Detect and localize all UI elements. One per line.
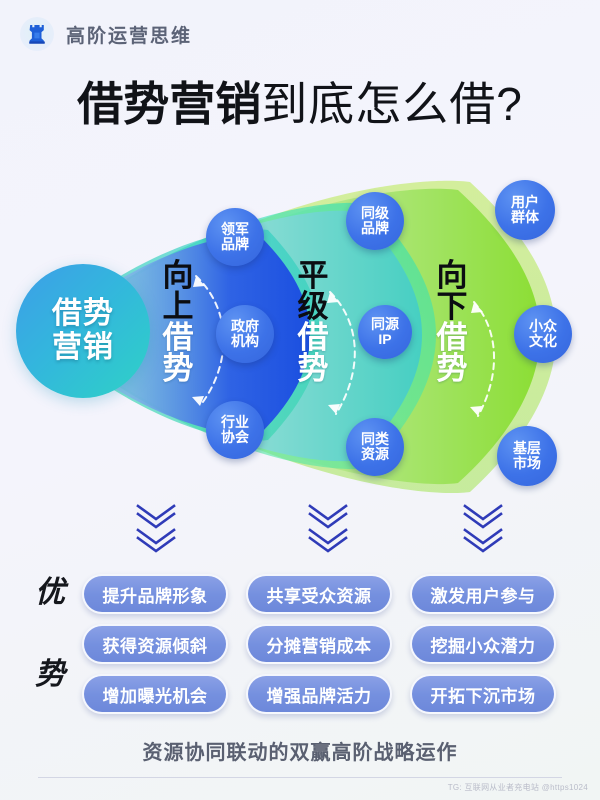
page-title: 借势营销到底怎么借? — [0, 80, 600, 130]
node-downward-3-line1: 基层 — [513, 441, 541, 456]
advantage-pill[interactable]: 增加曝光机会 — [82, 674, 228, 714]
node-peer-2-line1: 同源 — [371, 317, 399, 332]
node-downward-3-line2: 市场 — [513, 456, 541, 471]
advantage-pill[interactable]: 挖掘小众潜力 — [410, 624, 556, 664]
node-peer-1[interactable]: 同级 品牌 — [346, 192, 404, 250]
node-peer-3-line1: 同类 — [361, 432, 389, 447]
footer: 资源协同联动的双赢高阶战略运作 — [0, 736, 600, 778]
chevron-double-down-icon — [300, 500, 356, 556]
app-header: 高阶运营思维 — [0, 0, 600, 68]
advantages-grid: 提升品牌形象 共享受众资源 激发用户参与 获得资源倾斜 分摊营销成本 挖掘小众潜… — [82, 574, 582, 714]
node-upward-3-line1: 行业 — [221, 415, 249, 430]
node-peer-3-line2: 资源 — [361, 447, 389, 462]
footer-divider — [38, 777, 562, 778]
chevron-double-down-icon — [455, 500, 511, 556]
core-line-2: 营销 — [52, 331, 114, 365]
funnel-diagram: 借势 营销 向上 借势 平级 借势 向下 借势 领军 品牌 政府 机构 行业 协… — [0, 168, 600, 508]
chevron-double-down-icon — [128, 500, 184, 556]
node-upward-2-line1: 政府 — [231, 319, 259, 334]
node-downward-2-line2: 文化 — [529, 334, 557, 349]
node-upward-1-line1: 领军 — [221, 222, 249, 237]
chevron-row — [0, 500, 600, 560]
advantage-pill[interactable]: 共享受众资源 — [246, 574, 392, 614]
footer-tagline: 资源协同联动的双赢高阶战略运作 — [0, 736, 600, 765]
advantage-pill[interactable]: 分摊营销成本 — [246, 624, 392, 664]
node-upward-1[interactable]: 领军 品牌 — [206, 208, 264, 266]
advantages-label-char1: 优 — [26, 578, 74, 608]
node-upward-3-line2: 协会 — [221, 430, 249, 445]
node-upward-1-line2: 品牌 — [221, 237, 249, 252]
advantage-pill[interactable]: 获得资源倾斜 — [82, 624, 228, 664]
node-downward-1[interactable]: 用户 群体 — [495, 180, 555, 240]
chess-rook-icon — [20, 17, 54, 51]
node-upward-2-line2: 机构 — [231, 334, 259, 349]
advantage-pill[interactable]: 激发用户参与 — [410, 574, 556, 614]
advantages-section: 优 势 提升品牌形象 共享受众资源 激发用户参与 获得资源倾斜 分摊营销成本 挖… — [0, 562, 600, 732]
advantage-pill[interactable]: 开拓下沉市场 — [410, 674, 556, 714]
page-title-rest: 到底怎么借? — [261, 78, 523, 130]
node-downward-3[interactable]: 基层 市场 — [497, 426, 557, 486]
watermark: TG: 互联网从业者充电站 @https1024 — [448, 782, 588, 793]
advantages-label: 优 势 — [26, 578, 74, 690]
page-title-wrap: 借势营销到底怎么借? — [0, 80, 600, 130]
node-downward-1-line1: 用户 — [511, 195, 539, 210]
node-peer-1-line1: 同级 — [361, 206, 389, 221]
brand-name: 高阶运营思维 — [66, 21, 192, 48]
advantage-pill[interactable]: 提升品牌形象 — [82, 574, 228, 614]
core-circle: 借势 营销 — [16, 264, 150, 398]
node-upward-2[interactable]: 政府 机构 — [216, 305, 274, 363]
node-downward-1-line2: 群体 — [511, 210, 539, 225]
advantages-label-char2: 势 — [26, 660, 74, 690]
node-upward-3[interactable]: 行业 协会 — [206, 401, 264, 459]
advantage-pill[interactable]: 增强品牌活力 — [246, 674, 392, 714]
node-peer-1-line2: 品牌 — [361, 221, 389, 236]
node-peer-2[interactable]: 同源 IP — [358, 305, 412, 359]
node-downward-2[interactable]: 小众 文化 — [514, 305, 572, 363]
node-downward-2-line1: 小众 — [529, 319, 557, 334]
node-peer-2-line2: IP — [378, 332, 391, 347]
core-line-1: 借势 — [52, 297, 114, 331]
page-title-strong: 借势营销 — [77, 78, 261, 130]
node-peer-3[interactable]: 同类 资源 — [346, 418, 404, 476]
